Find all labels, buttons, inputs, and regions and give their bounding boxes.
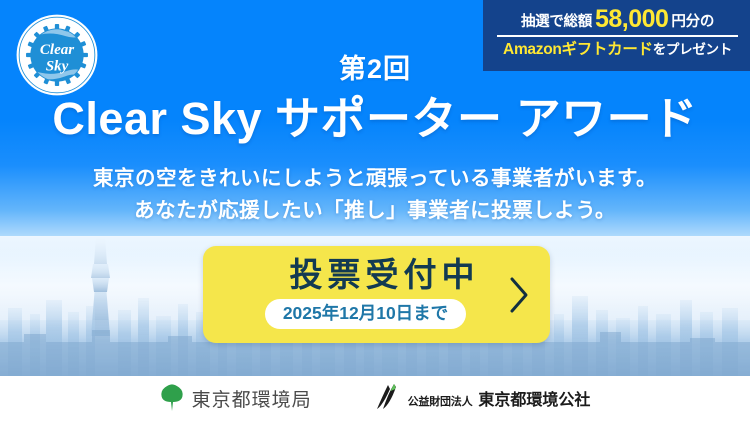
gift-amount-value: 58,000 (592, 7, 671, 32)
gift-prefix-label: 抽選で総額 (521, 15, 592, 30)
swoosh-icon (374, 383, 400, 413)
logo-right-prefix: 公益財団法人 (408, 393, 473, 409)
edition-label: 第2回 (0, 47, 750, 86)
gift-divider (497, 35, 738, 37)
cta-deadline-badge: 2025年12月10日まで (265, 299, 466, 329)
logo-right-label: 東京都環境公社 (478, 386, 590, 410)
ginkgo-leaf-icon (160, 384, 184, 412)
footer-logos: 東京都環境局 公益財団法人 東京都環境公社 (0, 376, 750, 420)
chevron-right-icon (508, 276, 530, 314)
logo-tokyo-kankyokyoku[interactable]: 東京都環境局 (160, 384, 312, 412)
lead-line-1: 東京の空をきれいにしようと頑張っている事業者がいます。 (0, 163, 750, 195)
campaign-banner: Clear Sky 大気環境の改善に取り組んでいます 抽選で総額 58,000 … (0, 0, 750, 422)
lead-copy: 東京の空をきれいにしようと頑張っている事業者がいます。 あなたが応援したい「推し… (0, 163, 750, 227)
logo-left-label: 東京都環境局 (192, 385, 312, 412)
gift-suffix-label: 円分の (671, 15, 714, 30)
page-title: Clear Sky サポーター アワード (0, 82, 750, 147)
cta-label: 投票受付中 (272, 258, 482, 291)
logo-tokyo-kankyo-kosha[interactable]: 公益財団法人 東京都環境公社 (374, 383, 591, 413)
vote-cta-button[interactable]: 投票受付中 2025年12月10日まで (203, 246, 550, 343)
lead-line-2: あなたが応援したい「推し」事業者に投票しよう。 (0, 195, 750, 227)
